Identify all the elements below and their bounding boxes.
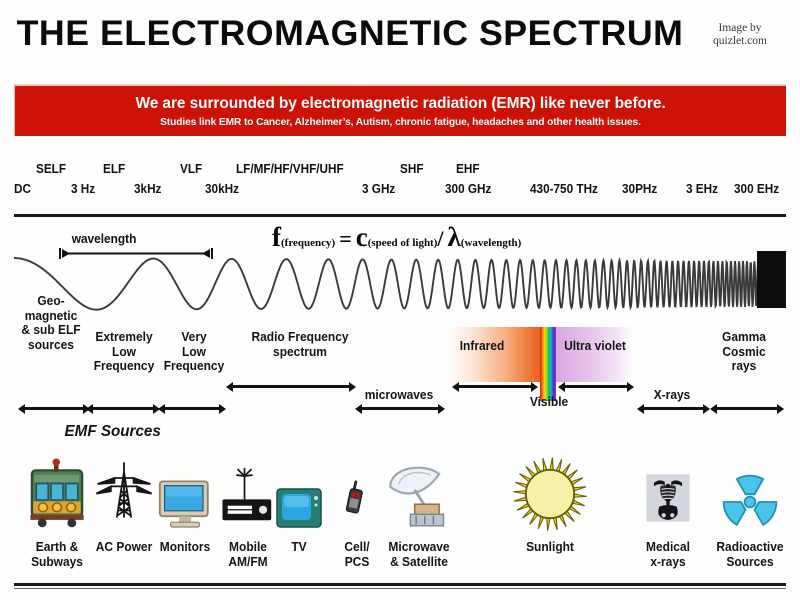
scale-frequency-label: 300 GHz	[445, 182, 491, 196]
arrow-head-right-icon	[349, 382, 356, 392]
arrow-bar	[360, 407, 440, 410]
scale-band-label: LF/MF/HF/VHF/UHF	[236, 162, 344, 176]
banner-headline: We are surrounded by electromagnetic rad…	[135, 95, 665, 113]
band-label-radio-frequency: Radio Frequencyspectrum	[237, 330, 362, 359]
emf-source-label: Microwave& Satellite	[374, 540, 463, 569]
emf-sources-heading: EMF Sources	[65, 423, 161, 441]
emf-source-item	[268, 445, 330, 535]
band-label-vlf: VeryLowFrequency	[162, 330, 227, 374]
arrow-bar	[163, 407, 221, 410]
emf-source-label-line: x-rays	[632, 555, 704, 570]
band-label-microwaves: microwaves	[359, 388, 439, 403]
gamma-solid-block	[757, 251, 786, 308]
band-label-line: Very	[162, 330, 227, 345]
band-range-arrow-radio-frequency	[226, 381, 356, 392]
band-label-line: Low	[86, 345, 162, 360]
emf-source-label-line: Microwave	[374, 540, 463, 555]
emf-source-label-line: Subways	[16, 555, 98, 570]
band-label-line: Low	[162, 345, 227, 360]
bottom-divider	[14, 583, 786, 586]
band-range-arrow-vlf	[158, 403, 226, 414]
emf-source-item	[506, 445, 594, 535]
attribution-line-2: quizlet.com	[688, 35, 792, 48]
scale-band-label: EHF	[456, 162, 480, 176]
scale-frequency-label: 3 GHz	[362, 182, 395, 196]
television-icon	[272, 483, 326, 538]
scale-band-label: VLF	[180, 162, 202, 176]
arrow-bar	[563, 385, 629, 388]
arrow-bar	[715, 407, 779, 410]
ultraviolet-gradient-block	[556, 327, 634, 382]
scale-frequency-label: 30PHz	[622, 182, 657, 196]
band-range-arrow-geomagnetic	[18, 403, 90, 414]
emf-source-label-line: Sources	[708, 555, 792, 570]
arrow-bar	[642, 407, 705, 410]
band-label-visible: Visible	[522, 395, 575, 410]
arrow-head-right-icon	[219, 404, 226, 414]
banner-subtext: Studies link EMR to Cancer, Alzheimer’s,…	[160, 117, 641, 128]
band-label-line: Visible	[522, 395, 575, 410]
scale-frequency-label: 300 EHz	[734, 182, 779, 196]
emf-source-label-line: TV	[270, 540, 329, 555]
band-label-line: Frequency	[162, 359, 227, 374]
arrow-head-right-icon	[777, 404, 784, 414]
band-label-line: rays	[708, 359, 780, 374]
power-pylon-icon	[94, 447, 154, 538]
cellphone-icon	[339, 461, 375, 538]
emf-source-label: Medicalx-rays	[632, 540, 704, 569]
emf-source-label-line: AM/FM	[216, 555, 281, 570]
band-range-arrow-ultra-violet	[558, 381, 634, 392]
band-range-arrow-elf	[86, 403, 160, 414]
scale-band-label: SHF	[400, 162, 424, 176]
band-label-line: Infrared	[454, 339, 511, 354]
satellite-dish-icon	[383, 461, 455, 538]
band-label-x-rays: X-rays	[645, 388, 698, 403]
band-label-elf: ExtremelyLowFrequency	[86, 330, 162, 374]
band-label-line: sources	[16, 338, 86, 353]
wave-diagram: wavelength f(frequency) = c(speed of lig…	[0, 218, 800, 328]
frequency-scale: SELFELFVLFLF/MF/HF/VHF/UHFSHFEHFDC3 Hz3k…	[0, 158, 800, 214]
band-label-line: Extremely	[86, 330, 162, 345]
infographic-page: THE ELECTROMAGNETIC SPECTRUM Image by qu…	[0, 0, 800, 600]
attribution-line-1: Image by	[688, 22, 792, 35]
arrow-bar	[23, 407, 85, 410]
crt-monitor-icon	[154, 473, 216, 538]
band-range-arrow-x-rays	[637, 403, 710, 414]
page-title: THE ELECTROMAGNETIC SPECTRUM	[0, 14, 707, 54]
visible-spectrum-block	[540, 327, 556, 401]
electromagnetic-waveform	[0, 218, 800, 328]
emf-source-label: TV	[270, 540, 329, 555]
scale-divider	[14, 214, 786, 217]
scale-frequency-label: 3kHz	[134, 182, 161, 196]
band-label-line: X-rays	[645, 388, 698, 403]
emf-source-label: RadioactiveSources	[708, 540, 792, 569]
arrow-bar	[231, 385, 351, 388]
scale-frequency-label: 3 EHz	[686, 182, 718, 196]
band-label-line: Frequency	[86, 359, 162, 374]
band-label-line: Ultra violet	[558, 339, 632, 354]
band-range-arrow-microwaves	[355, 403, 445, 414]
band-range-arrow-gamma-cosmic-rays	[710, 403, 784, 414]
scale-frequency-label: 430-750 THz	[530, 182, 598, 196]
emf-source-label-line: & Satellite	[374, 555, 463, 570]
attribution: Image by quizlet.com	[688, 22, 792, 48]
emf-source-label-line: Medical	[632, 540, 704, 555]
scale-frequency-label: DC	[14, 182, 31, 196]
band-range-arrow-infrared	[452, 381, 538, 392]
band-label-line: spectrum	[237, 345, 362, 360]
scale-frequency-label: 3 Hz	[71, 182, 95, 196]
arrow-head-right-icon	[531, 382, 538, 392]
arrow-head-right-icon	[627, 382, 634, 392]
band-label-ultra-violet: Ultra violet	[558, 339, 632, 354]
emf-source-item	[630, 445, 706, 535]
scale-frequency-label: 30kHz	[205, 182, 239, 196]
emf-source-item	[372, 445, 466, 535]
band-label-geomagnetic: Geo-magnetic& sub ELFsources	[16, 294, 86, 353]
band-label-line: Cosmic	[708, 345, 780, 360]
band-label-line: Geo-	[16, 294, 86, 309]
band-label-line: Gamma	[708, 330, 780, 345]
band-label-line: microwaves	[359, 388, 439, 403]
warning-banner: We are surrounded by electromagnetic rad…	[14, 84, 786, 136]
emf-source-item	[706, 445, 794, 535]
radioactive-icon	[720, 471, 780, 538]
emf-source-item	[147, 445, 223, 535]
bottom-divider-thin	[14, 588, 786, 589]
band-label-line: Radio Frequency	[237, 330, 362, 345]
arrow-head-right-icon	[703, 404, 710, 414]
emf-source-label: Monitors	[149, 540, 221, 555]
band-label-gamma-cosmic-rays: GammaCosmicrays	[708, 330, 780, 374]
infrared-gradient-block	[447, 327, 540, 382]
band-label-infrared: Infrared	[454, 339, 511, 354]
scale-band-label: SELF	[36, 162, 66, 176]
emf-source-label-line: Sunlight	[508, 540, 592, 555]
emf-source-label-line: Monitors	[149, 540, 221, 555]
sun-icon	[511, 455, 589, 538]
scale-band-label: ELF	[103, 162, 125, 176]
emf-source-label: Sunlight	[508, 540, 592, 555]
arrow-bar	[91, 407, 155, 410]
xray-film-icon	[641, 463, 695, 538]
emf-source-label-line: Radioactive	[708, 540, 792, 555]
band-label-line: & sub ELF	[16, 323, 86, 338]
arrow-bar	[457, 385, 533, 388]
arrow-head-right-icon	[438, 404, 445, 414]
band-label-line: magnetic	[16, 309, 86, 324]
